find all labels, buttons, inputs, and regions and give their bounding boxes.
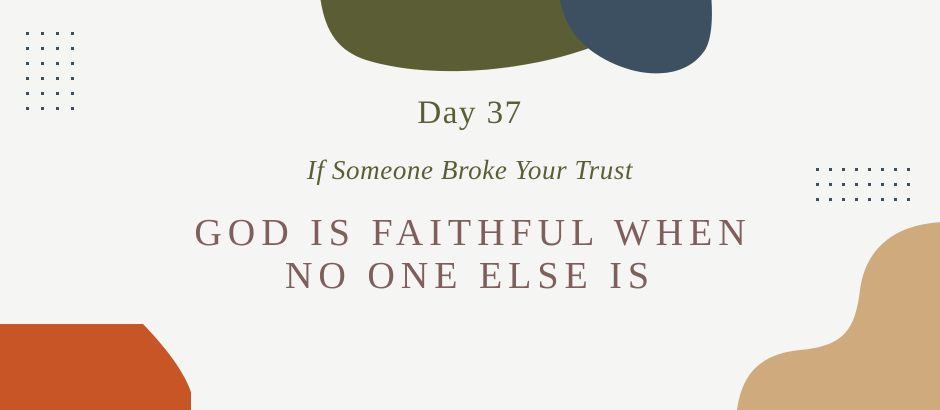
devotional-card: Day 37 If Someone Broke Your Trust GOD I… (0, 0, 940, 410)
text-block: Day 37 If Someone Broke Your Trust GOD I… (0, 0, 940, 410)
day-label: Day 37 (0, 97, 940, 130)
headline: GOD IS FAITHFUL WHEN NO ONE ELSE IS (0, 212, 940, 297)
subtitle: If Someone Broke Your Trust (0, 157, 940, 184)
